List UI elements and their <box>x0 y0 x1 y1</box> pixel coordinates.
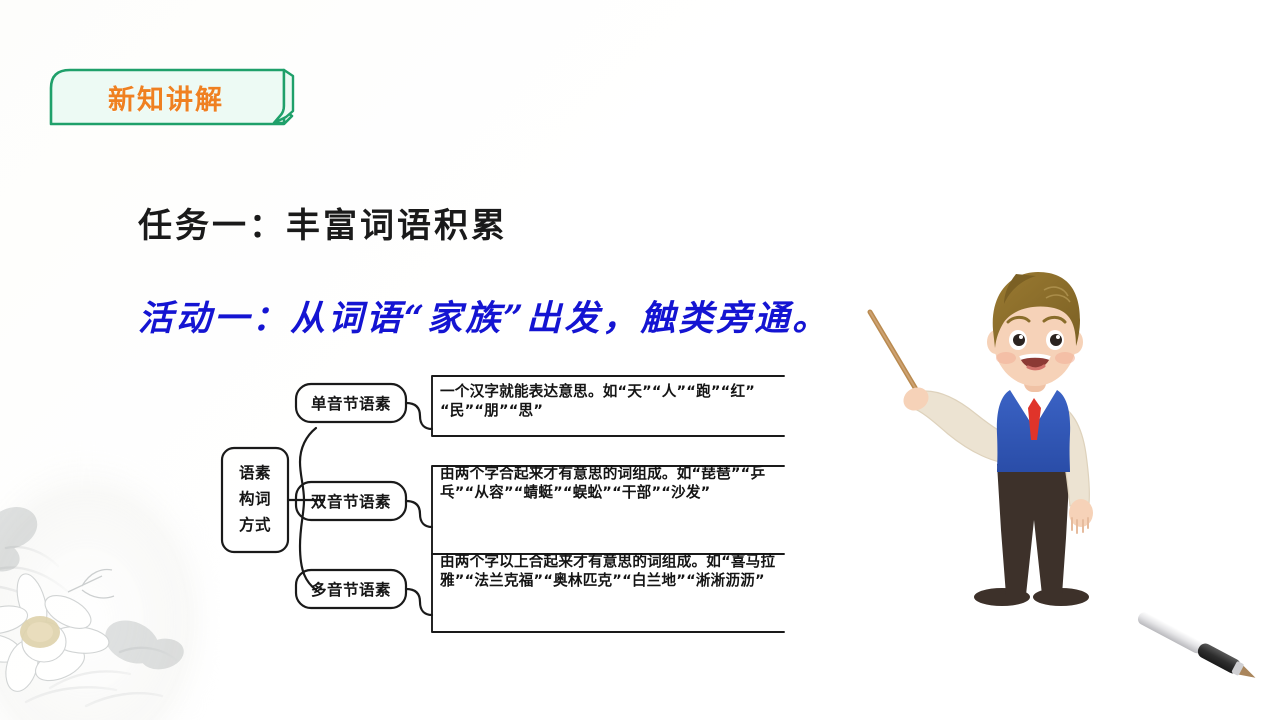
mindmap-description-3: 由两个字以上合起来才有意思的词组成。如“喜马拉雅”“法兰克福”“奥林匹克”“白兰… <box>440 552 776 591</box>
shirt <box>997 392 1070 470</box>
mindmap-node-label-1: 单音节语素 <box>311 394 391 413</box>
mindmap-node-label-3: 多音节语素 <box>311 580 391 599</box>
head <box>993 290 1077 386</box>
mindmap-description-1: 一个汉字就能表达意思。如“天”“人”“跑”“红”“民”“朋”“思” <box>440 382 776 421</box>
trousers <box>997 464 1070 595</box>
eyes <box>1009 330 1064 350</box>
tie <box>1028 398 1041 440</box>
right-ear <box>1065 330 1083 354</box>
mouth <box>1020 355 1050 369</box>
left-hand <box>899 383 933 415</box>
right-eyebrow <box>1044 317 1065 322</box>
right-hand <box>1069 499 1093 533</box>
pen-decoration <box>1120 580 1280 720</box>
mindmap-root-label: 语素 构词 方式 <box>239 463 271 534</box>
neck <box>1024 368 1046 392</box>
left-cheek <box>996 352 1016 364</box>
activity-heading: 活动一：从词语“家族”出发，触类旁通。 <box>138 290 830 341</box>
left-ear <box>987 330 1005 354</box>
collar <box>1018 382 1050 410</box>
vest <box>997 390 1070 472</box>
right-shoe <box>1033 588 1089 606</box>
mindmap-description-2: 由两个字合起来才有意思的词组成。如“琵琶”“乒乓”“从容”“蜻蜓”“蜈蚣”“干部… <box>440 464 776 503</box>
left-shoe <box>974 588 1030 606</box>
mindmap-diagram: 语素 构词 方式 单音节语素 双音节语素 多音节语素 一个汉字就能表达意思。如“… <box>212 366 792 636</box>
task-heading: 任务一：丰富词语积累 <box>138 198 508 247</box>
left-eyebrow <box>1008 317 1029 322</box>
svg-text:方式: 方式 <box>239 515 271 534</box>
lotus-flower-decoration <box>0 440 220 720</box>
hair-highlight <box>1044 287 1070 302</box>
section-banner: 新知讲解 <box>48 66 306 128</box>
right-sleeve <box>1046 402 1089 506</box>
svg-text:构词: 构词 <box>239 489 271 508</box>
banner-label: 新知讲解 <box>48 66 284 128</box>
hair <box>993 272 1080 348</box>
mindmap-node-label-2: 双音节语素 <box>311 492 391 511</box>
right-cheek <box>1055 352 1075 364</box>
teacher-illustration <box>858 268 1148 638</box>
svg-text:语素: 语素 <box>239 463 271 482</box>
hair-tuft <box>1004 274 1036 304</box>
pointer-stick <box>870 312 920 396</box>
slide-canvas: 新知讲解 任务一：丰富词语积累 活动一：从词语“家族”出发，触类旁通。 <box>0 0 1280 720</box>
left-sleeve <box>912 391 1020 464</box>
